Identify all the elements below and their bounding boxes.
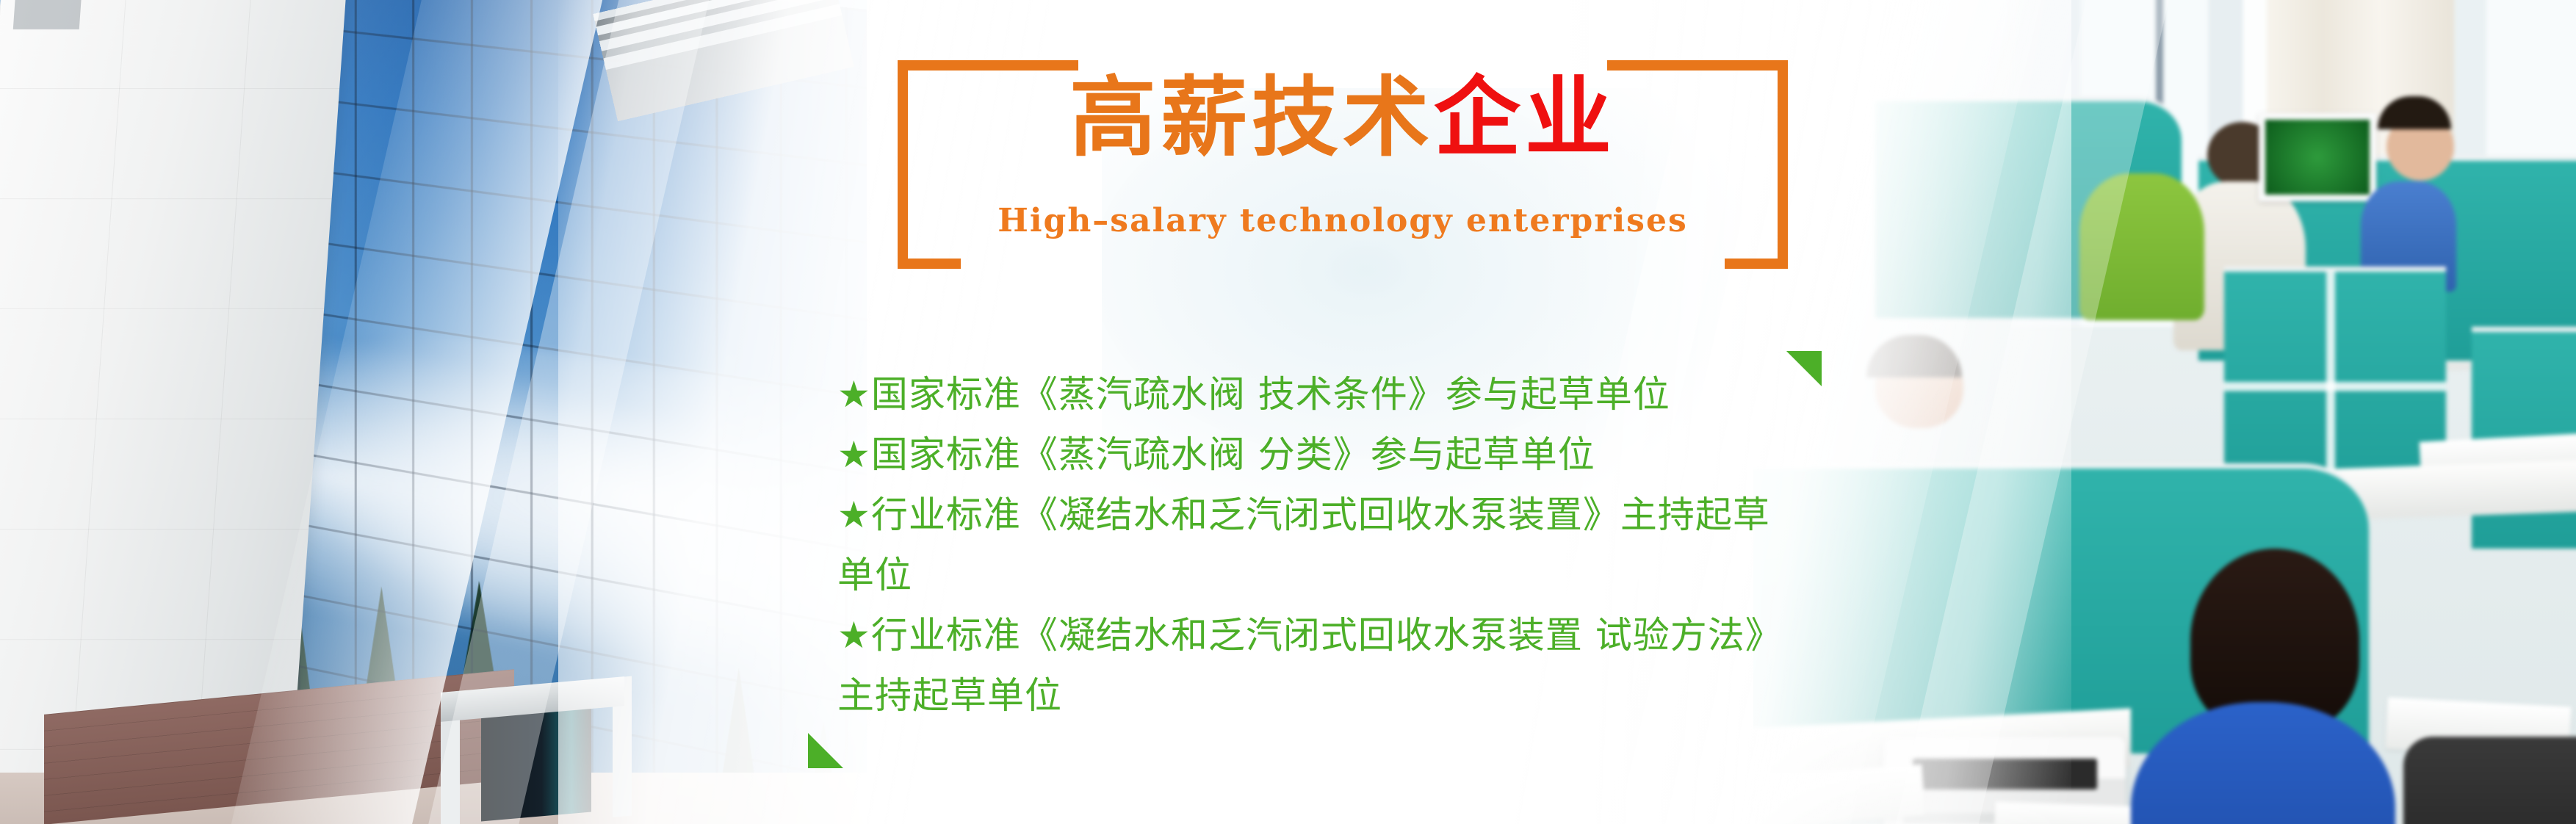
list-item-text: 国家标准《蒸汽疏水阀 分类》参与起草单位 — [871, 433, 1595, 476]
banner-title-orange: 高薪技术 — [1069, 67, 1434, 168]
list-item-text: 行业标准《凝结水和乏汽闭式回收水泵装置 试验方法》主持起草单位 — [837, 614, 1783, 717]
list-item: ★国家标准《蒸汽疏水阀 技术条件》参与起草单位 — [837, 364, 1807, 424]
frame-bottom-left-stub — [898, 259, 961, 269]
banner-title-red: 企业 — [1434, 67, 1616, 168]
office-chair — [2403, 737, 2576, 824]
star-icon: ★ — [837, 373, 871, 416]
star-icon: ★ — [837, 433, 871, 476]
banner-title: 高薪技术企业 — [898, 62, 1788, 173]
green-triangle-bottom-left-icon — [808, 733, 843, 768]
promo-banner: 高薪技术企业 High–salary technology enterprise… — [0, 0, 2576, 824]
star-icon: ★ — [837, 494, 871, 536]
list-item: ★行业标准《凝结水和乏汽闭式回收水泵装置 试验方法》主持起草单位 — [837, 605, 1807, 726]
list-item-text: 行业标准《凝结水和乏汽闭式回收水泵装置》主持起草单位 — [837, 494, 1770, 596]
list-item: ★行业标准《凝结水和乏汽闭式回收水泵装置》主持起草单位 — [837, 485, 1807, 605]
star-icon: ★ — [837, 614, 871, 657]
facade-vent — [13, 0, 83, 29]
computer-monitor — [2259, 113, 2376, 201]
list-item: ★国家标准《蒸汽疏水阀 分类》参与起草单位 — [837, 424, 1807, 485]
list-item-text: 国家标准《蒸汽疏水阀 技术条件》参与起草单位 — [871, 373, 1670, 416]
credentials-list: ★国家标准《蒸汽疏水阀 技术条件》参与起草单位 ★国家标准《蒸汽疏水阀 分类》参… — [837, 364, 1807, 726]
frame-bottom-right-stub — [1725, 259, 1788, 269]
green-triangle-top-right-icon — [1786, 351, 1822, 386]
banner-subtitle: High–salary technology enterprises — [898, 202, 1788, 239]
